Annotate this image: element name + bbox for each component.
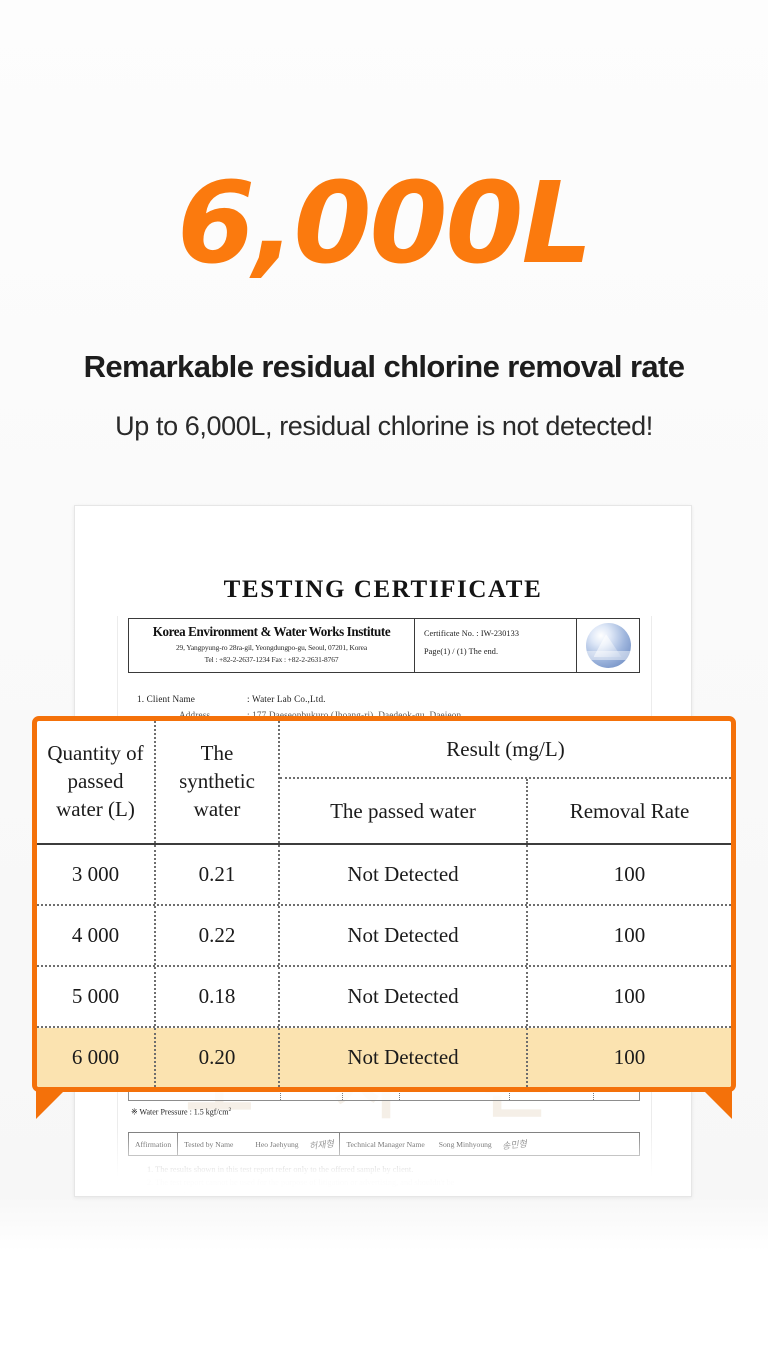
header-synthetic-line-1: The (179, 740, 255, 768)
table-row: 4 000 0.22 Not Detected 100 (37, 906, 731, 965)
header-quantity-line-1: Quantity of (47, 740, 143, 768)
technical-manager-label: Technical Manager Name (346, 1140, 424, 1149)
table-row: 3 000 0.21 Not Detected 100 (37, 845, 731, 904)
row-passed-water: Not Detected (280, 1028, 528, 1087)
header-quantity-cell: Quantity of passed water (L) (37, 721, 156, 843)
affirmation-box: Affirmation Tested by Name Heo Jaehyung … (128, 1132, 640, 1156)
table-row-highlighted: 6 000 0.20 Not Detected 100 (37, 1028, 731, 1087)
promo-page: 6,000L Remarkable residual chlorine remo… (0, 0, 768, 1360)
water-pressure-exponent: 2 (228, 1107, 231, 1113)
row-quantity: 4 000 (37, 906, 156, 965)
row-synthetic: 0.21 (156, 845, 280, 904)
header-synthetic-line-3: water (179, 796, 255, 824)
result-table: Quantity of passed water (L) The synthet… (32, 716, 736, 1092)
row-synthetic: 0.22 (156, 906, 280, 965)
header-quantity-line-3: water (L) (47, 796, 143, 824)
result-table-overlay: Quantity of passed water (L) The synthet… (32, 716, 736, 1092)
client-name-label: 1. Client Name (137, 694, 247, 704)
tested-by-block: Tested by Name Heo Jaehyung 허재형 (178, 1133, 340, 1155)
water-pressure-note: ※ Water Pressure : 1.5 kgf/cm2 (131, 1107, 231, 1117)
affirmation-label: Affirmation (129, 1133, 178, 1155)
institute-block: Korea Environment & Water Works Institut… (129, 619, 415, 672)
technical-manager-block: Technical Manager Name Song Minhyoung 송민… (340, 1133, 532, 1155)
header-removal-rate: Removal Rate (528, 779, 731, 843)
technical-manager-name: Song Minhyoung (439, 1140, 492, 1149)
header-result-group: Result (mg/L) The passed water Removal R… (280, 721, 731, 843)
institute-seal-icon (586, 623, 631, 668)
certificate-title: TESTING CERTIFICATE (75, 576, 691, 604)
table-row: 5 000 0.18 Not Detected 100 (37, 967, 731, 1026)
row-synthetic: 0.20 (156, 1028, 280, 1087)
certificate-meta-block: Certificate No. : IW-230133 Page(1) / (1… (415, 619, 577, 672)
header-result-label: Result (mg/L) (280, 721, 731, 779)
hero-capacity-number: 6,000L (0, 168, 768, 280)
water-pressure-text: ※ Water Pressure : 1.5 kgf/cm (131, 1108, 228, 1117)
row-removal-rate: 100 (528, 906, 731, 965)
footnote-3: republished without document approval. (147, 1190, 454, 1197)
certificate-footnotes: 1. The results shown in this test report… (147, 1164, 454, 1197)
institute-address: 29, Yangpyung-ro 28ra-gil, Yeongdungpo-g… (133, 643, 410, 652)
hero-headline: Remarkable residual chlorine removal rat… (0, 348, 768, 385)
header-quantity-line-2: passed (47, 768, 143, 796)
header-synthetic-cell: The synthetic water (156, 721, 280, 843)
row-quantity: 6 000 (37, 1028, 156, 1087)
client-name-value: : Water Lab Co.,Ltd. (247, 694, 326, 704)
header-synthetic-line-2: synthetic (179, 768, 255, 796)
result-table-header-row: Quantity of passed water (L) The synthet… (37, 721, 731, 843)
footnote-2: 2. The test report cannot be used for th… (147, 1177, 454, 1190)
row-removal-rate: 100 (528, 845, 731, 904)
row-passed-water: Not Detected (280, 845, 528, 904)
row-quantity: 5 000 (37, 967, 156, 1026)
hero-subheadline: Up to 6,000L, residual chlorine is not d… (0, 410, 768, 442)
row-passed-water: Not Detected (280, 967, 528, 1026)
client-name-line: 1. Client Name: Water Lab Co.,Ltd. (137, 694, 326, 704)
tested-by-label: Tested by Name (184, 1140, 233, 1149)
certificate-number: Certificate No. : IW-230133 (424, 629, 576, 638)
header-passed-water: The passed water (280, 779, 528, 843)
row-passed-water: Not Detected (280, 906, 528, 965)
certificate-page: Page(1) / (1) The end. (424, 647, 576, 656)
header-result-subrow: The passed water Removal Rate (280, 779, 731, 843)
result-table-body: 3 000 0.21 Not Detected 100 4 000 0.22 N… (37, 845, 731, 1087)
row-removal-rate: 100 (528, 967, 731, 1026)
row-quantity: 3 000 (37, 845, 156, 904)
row-synthetic: 0.18 (156, 967, 280, 1026)
technical-manager-signature: 송민형 (501, 1136, 527, 1152)
footnote-1: 1. The results shown in this test report… (147, 1164, 454, 1177)
institute-name: Korea Environment & Water Works Institut… (134, 624, 408, 640)
institute-contact: Tel : +82-2-2637-1234 Fax : +82-2-2631-8… (133, 655, 410, 664)
certificate-header-box: Korea Environment & Water Works Institut… (128, 618, 640, 673)
tested-by-name: Heo Jaehyung (255, 1140, 298, 1149)
row-removal-rate: 100 (528, 1028, 731, 1087)
tested-by-signature: 허재형 (308, 1136, 334, 1152)
certificate-seal-cell (577, 619, 639, 672)
